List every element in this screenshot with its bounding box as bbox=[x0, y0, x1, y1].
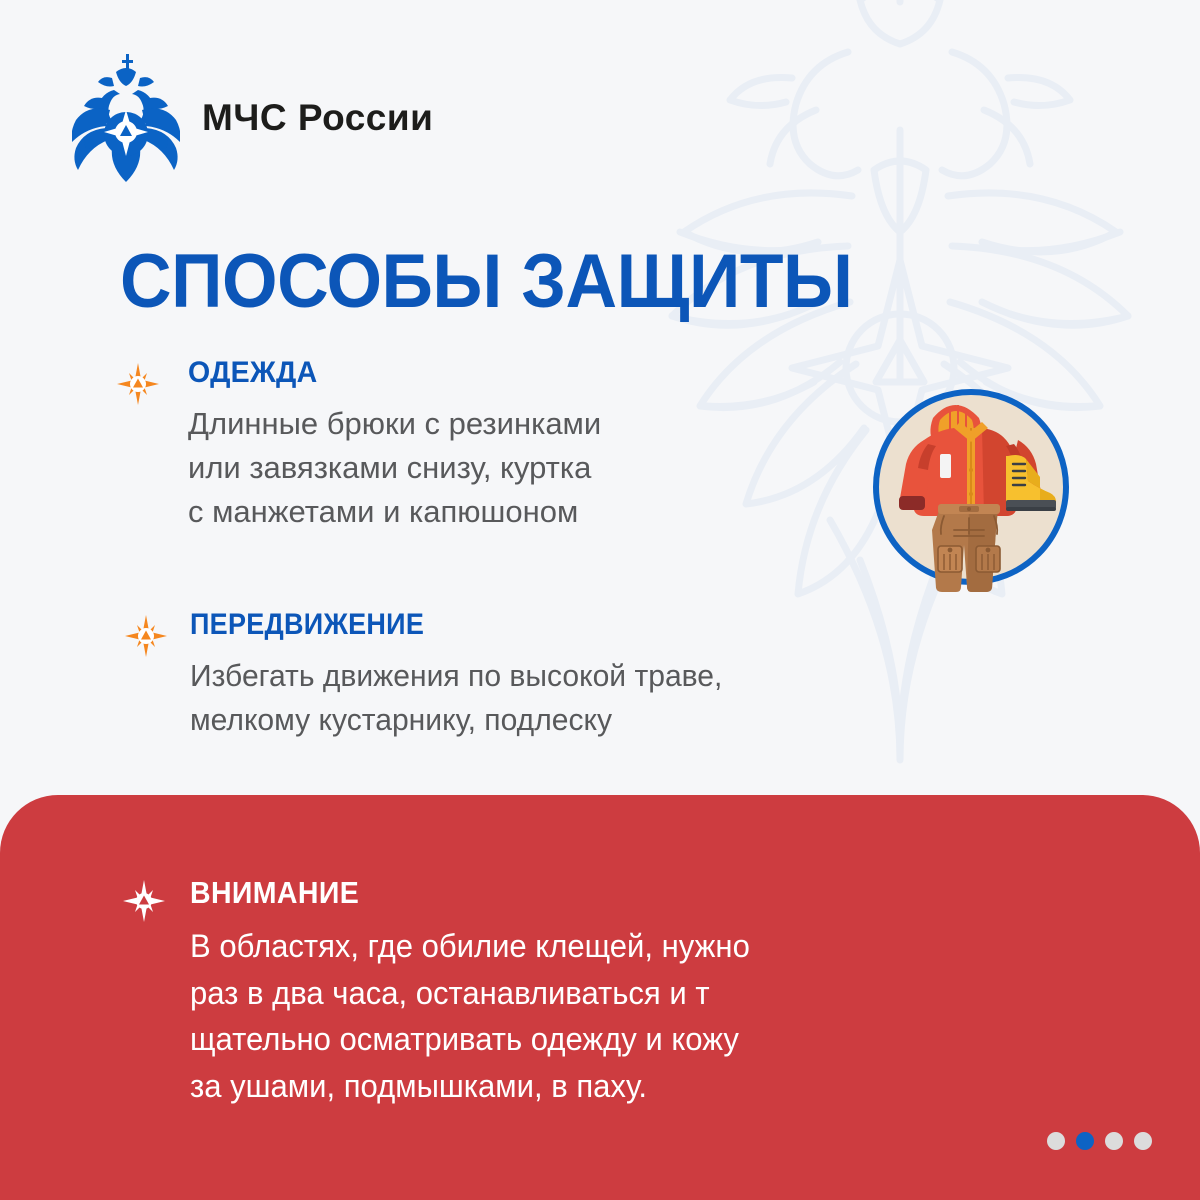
warning-text: В областях, где обилие клещей, нужно раз… bbox=[190, 923, 750, 1110]
warning-panel: ВНИМАНИЕ В областях, где обилие клещей, … bbox=[0, 795, 1200, 1200]
orange-compass-star-icon bbox=[116, 362, 160, 406]
pagination-dot-4[interactable] bbox=[1134, 1132, 1152, 1150]
page-title: СПОСОБЫ ЗАЩИТЫ bbox=[120, 238, 853, 325]
section-clothing-text: Длинные брюки с резинками или завязками … bbox=[188, 402, 601, 534]
orange-compass-star-icon bbox=[124, 614, 168, 658]
section-clothing: ОДЕЖДА Длинные брюки с резинками или зав… bbox=[116, 356, 601, 534]
pagination-dot-1[interactable] bbox=[1047, 1132, 1065, 1150]
brand-header: МЧС России bbox=[72, 52, 433, 184]
section-movement-heading: ПЕРЕДВИЖЕНИЕ bbox=[190, 608, 684, 642]
pagination-dot-3[interactable] bbox=[1105, 1132, 1123, 1150]
white-compass-star-icon bbox=[122, 879, 166, 923]
emercom-eagle-emblem-icon bbox=[72, 52, 180, 184]
section-clothing-heading: ОДЕЖДА bbox=[188, 356, 581, 390]
section-movement-text: Избегать движения по высокой траве, мелк… bbox=[190, 654, 722, 742]
section-movement: ПЕРЕДВИЖЕНИЕ Избегать движения по высоко… bbox=[124, 608, 739, 742]
brand-name: МЧС России bbox=[202, 97, 433, 139]
warning-content: ВНИМАНИЕ В областях, где обилие клещей, … bbox=[122, 875, 767, 1110]
warning-heading: ВНИМАНИЕ bbox=[190, 875, 721, 911]
pagination-dot-2[interactable] bbox=[1076, 1132, 1094, 1150]
pagination-dots[interactable] bbox=[1047, 1132, 1152, 1150]
protective-clothing-illustration bbox=[862, 378, 1080, 596]
